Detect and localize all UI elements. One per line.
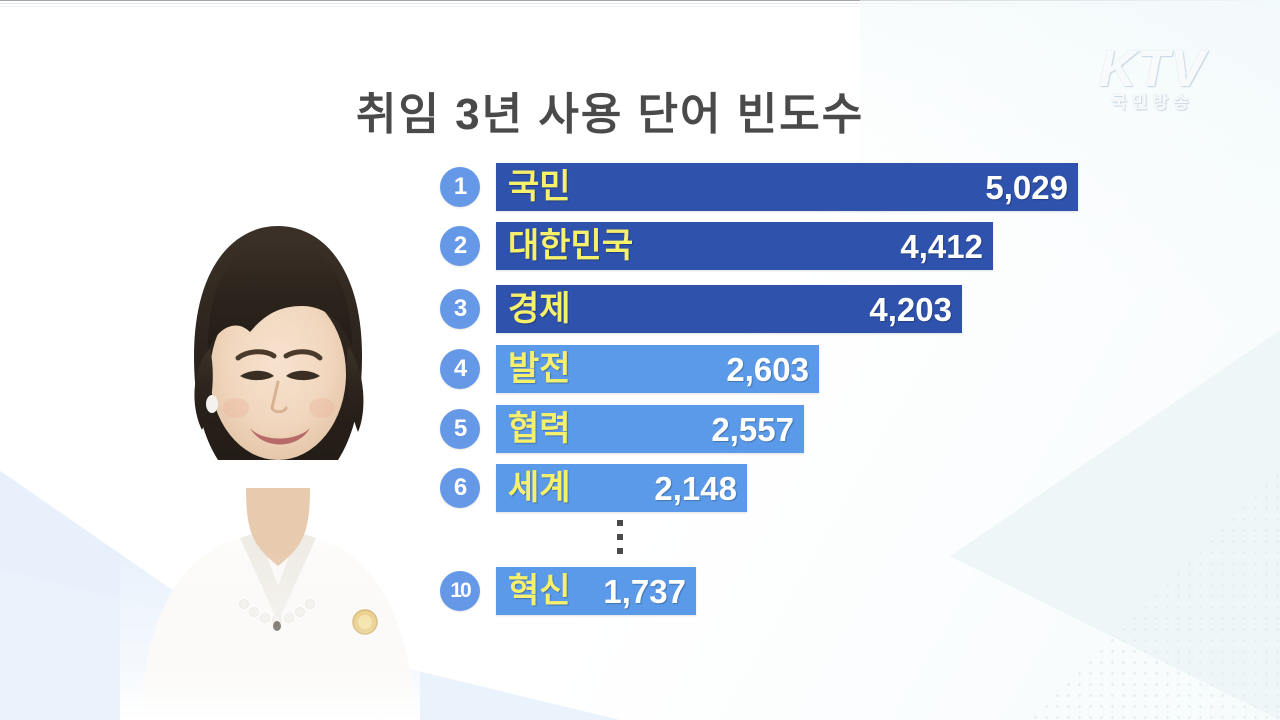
bar-word-label: 혁신	[508, 574, 571, 608]
bar-value-label: 2,557	[711, 413, 794, 446]
bar-row: 10혁신1,737	[440, 567, 696, 615]
bar-value-label: 1,737	[603, 575, 686, 608]
ellipsis-dot	[617, 534, 623, 540]
bar: 경제4,203	[496, 285, 962, 333]
bar-word-label: 대한민국	[508, 229, 633, 263]
bar-word-label: 협력	[508, 412, 571, 446]
bar: 국민5,029	[496, 163, 1078, 211]
rank-badge: 5	[440, 409, 480, 449]
rank-badge: 10	[440, 571, 480, 611]
bar-row: 5협력2,557	[440, 405, 804, 453]
bar-value-label: 4,203	[869, 293, 952, 326]
ellipsis-dot	[617, 520, 623, 526]
bar-word-label: 세계	[508, 471, 571, 505]
vertical-ellipsis-icon	[617, 520, 623, 554]
bar-value-label: 4,412	[900, 230, 983, 263]
bar-row: 2대한민국4,412	[440, 222, 993, 270]
bar-value-label: 2,603	[726, 353, 809, 386]
bar: 협력2,557	[496, 405, 804, 453]
rank-badge: 4	[440, 349, 480, 389]
bar-chart: 1국민5,0292대한민국4,4123경제4,2034발전2,6035협력2,5…	[0, 0, 1280, 720]
bar: 발전2,603	[496, 345, 819, 393]
rank-badge: 1	[440, 167, 480, 207]
rank-badge: 6	[440, 468, 480, 508]
bar-row: 6세계2,148	[440, 464, 747, 512]
bar-row: 4발전2,603	[440, 345, 819, 393]
bar-value-label: 2,148	[654, 472, 737, 505]
ellipsis-dot	[617, 548, 623, 554]
bar: 대한민국4,412	[496, 222, 993, 270]
broadcast-graphic-stage: KTV 국민방송 취임 3년 사용 단어 빈도수 1국민5,0292대한민국4,…	[0, 0, 1280, 720]
bar-word-label: 경제	[508, 292, 571, 326]
rank-badge: 2	[440, 226, 480, 266]
bar: 세계2,148	[496, 464, 747, 512]
bar: 혁신1,737	[496, 567, 696, 615]
bar-value-label: 5,029	[985, 171, 1068, 204]
bar-word-label: 국민	[508, 170, 571, 204]
bar-row: 3경제4,203	[440, 285, 962, 333]
bar-row: 1국민5,029	[440, 163, 1078, 211]
rank-badge: 3	[440, 289, 480, 329]
bar-word-label: 발전	[508, 352, 571, 386]
